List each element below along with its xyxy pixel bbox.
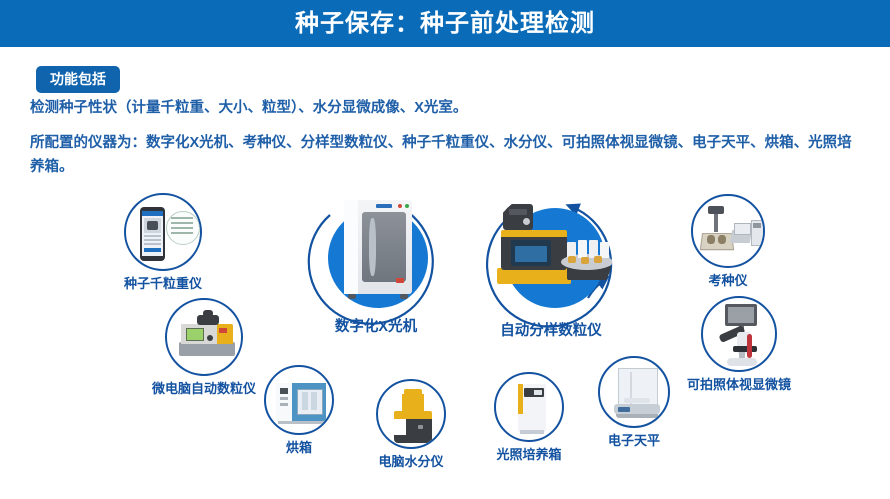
device-label-digital-xray-machine: 数字化X光机	[335, 319, 417, 336]
device-node-computer-moisture-meter[interactable]: 电脑水分仪	[376, 379, 446, 470]
device-label-drying-oven: 烘箱	[286, 440, 312, 456]
feature-description-line-one: 检测种子性状（计量千粒重、大小、粒型）、水分显微成像、X光室。	[30, 96, 850, 120]
device-node-electronic-balance[interactable]: 电子天平	[598, 356, 670, 449]
device-icon-electronic-balance	[598, 356, 670, 428]
device-node-seed-thousand-grain-weight[interactable]: 种子千粒重仪	[124, 193, 202, 292]
device-icon-photo-stereo-microscope	[701, 296, 777, 372]
device-icon-auto-sample-seed-counter	[487, 188, 615, 316]
device-label-photo-stereo-microscope: 可拍照体视显微镜	[687, 377, 791, 393]
page-title: 种子保存：种子前处理检测	[295, 12, 595, 36]
device-icon-computer-moisture-meter	[376, 379, 446, 449]
device-label-computer-moisture-meter: 电脑水分仪	[378, 454, 443, 470]
device-icon-micro-auto-seed-counter	[165, 298, 243, 376]
device-icon-light-incubator	[494, 372, 564, 442]
device-node-drying-oven[interactable]: 烘箱	[264, 365, 334, 456]
device-node-photo-stereo-microscope[interactable]: 可拍照体视显微镜	[687, 296, 791, 393]
device-icon-drying-oven	[264, 365, 334, 435]
device-label-auto-sample-seed-counter: 自动分样数粒仪	[500, 323, 602, 340]
device-node-auto-sample-seed-counter[interactable]: 自动分样数粒仪	[487, 188, 615, 340]
device-icon-seed-thousand-grain-weight	[124, 193, 202, 271]
device-label-seed-test-instrument: 考种仪	[708, 273, 747, 289]
device-label-electronic-balance: 电子天平	[608, 433, 660, 449]
device-node-digital-xray-machine[interactable]: 数字化X光机	[312, 184, 440, 336]
device-icon-seed-test-instrument	[691, 194, 765, 268]
header-bar: 种子保存：种子前处理检测	[0, 0, 890, 47]
device-node-seed-test-instrument[interactable]: 考种仪	[691, 194, 765, 289]
instrument-list-line: 所配置的仪器为：数字化X光机、考种仪、分样型数粒仪、种子千粒重仪、水分仪、可拍照…	[30, 131, 856, 179]
device-label-seed-thousand-grain-weight: 种子千粒重仪	[124, 276, 202, 292]
device-icon-digital-xray-machine	[312, 184, 440, 312]
device-node-micro-auto-seed-counter[interactable]: 微电脑自动数粒仪	[152, 298, 256, 397]
feature-badge: 功能包括	[36, 66, 120, 93]
device-label-light-incubator: 光照培养箱	[496, 447, 561, 463]
device-diagram: 种子千粒重仪 微电脑自动数粒仪	[0, 180, 890, 499]
device-node-light-incubator[interactable]: 光照培养箱	[494, 372, 564, 463]
device-label-micro-auto-seed-counter: 微电脑自动数粒仪	[152, 381, 256, 397]
